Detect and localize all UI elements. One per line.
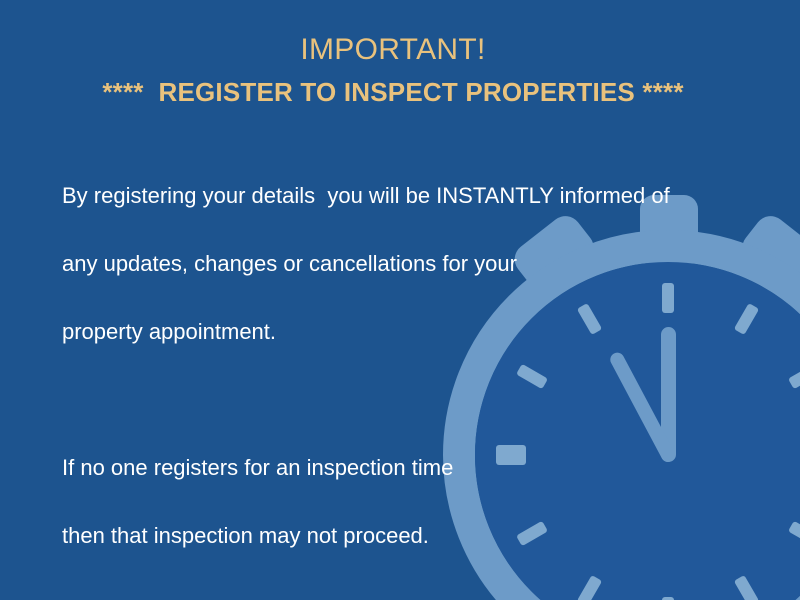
paragraph2-line2: then that inspection may not proceed. [62,520,712,552]
body-block: By registering your details you will be … [62,144,712,600]
slide-canvas: IMPORTANT! **** REGISTER TO INSPECT PROP… [0,0,800,600]
paragraph-spacer-2 [62,588,712,600]
paragraph2-line1: If no one registers for an inspection ti… [62,452,712,484]
paragraph-registering-benefits: By registering your details you will be … [62,144,712,384]
headline-register-to-inspect: **** REGISTER TO INSPECT PROPERTIES **** [0,73,786,111]
paragraph-no-registration-warning: If no one registers for an inspection ti… [62,416,712,588]
paragraph-spacer-1 [62,384,712,416]
paragraph1-line1: By registering your details you will be … [62,180,712,212]
headline-block: IMPORTANT! **** REGISTER TO INSPECT PROP… [0,30,786,111]
paragraph1-line2: any updates, changes or cancellations fo… [62,248,712,280]
headline-important: IMPORTANT! [0,30,786,70]
paragraph1-line3: property appointment. [62,316,712,348]
slide-content: IMPORTANT! **** REGISTER TO INSPECT PROP… [0,0,800,600]
